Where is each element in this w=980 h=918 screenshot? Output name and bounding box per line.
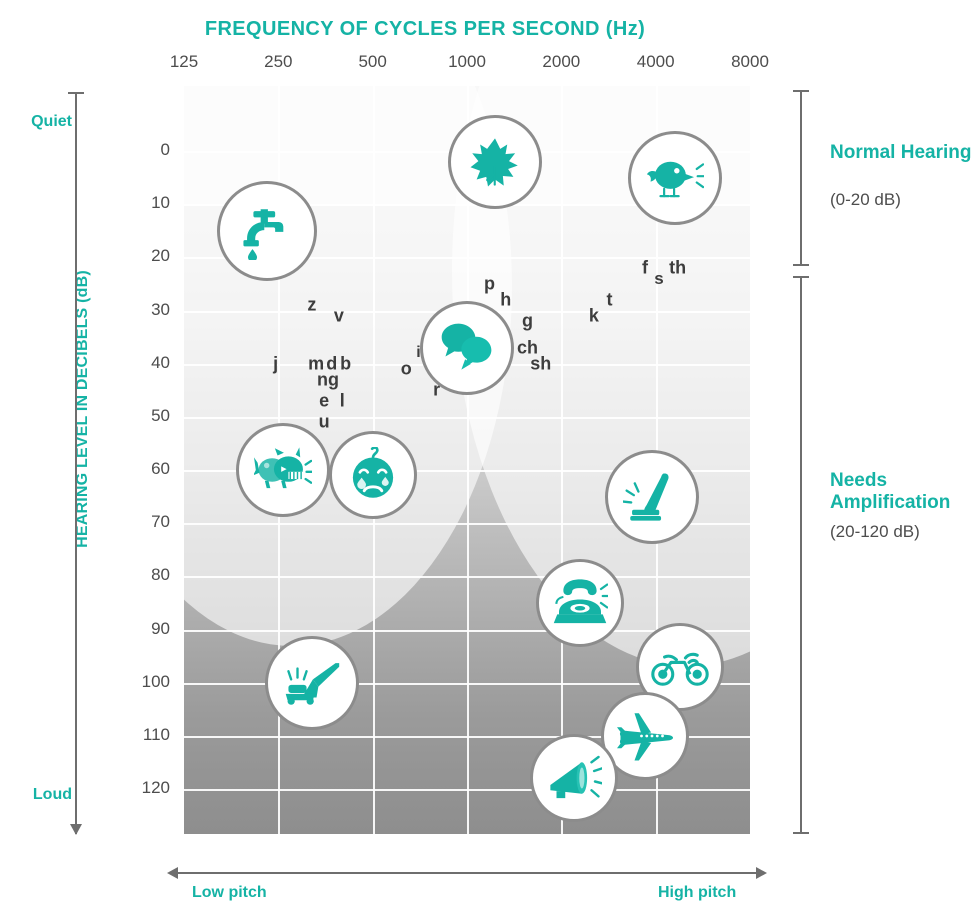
telephone-ring-icon	[552, 575, 608, 631]
phoneme-label: g	[522, 311, 533, 332]
y-tick-label: 80	[118, 565, 170, 585]
leaf-rustling-icon	[467, 134, 523, 190]
x-tick-label: 125	[149, 52, 219, 72]
phoneme-label: p	[484, 273, 495, 294]
sound-bubble-megaphone	[530, 734, 618, 822]
phoneme-label: s	[654, 269, 663, 289]
sound-bubble-faucet-dripping	[217, 181, 317, 281]
arrow-left-icon	[167, 867, 178, 879]
sound-bubble-baby-crying	[329, 431, 417, 519]
bird-chirping-icon	[646, 149, 704, 207]
quiet-label: Quiet	[16, 113, 72, 131]
sound-bubble-speech-bubbles	[420, 301, 514, 395]
high-pitch-label: High pitch	[658, 884, 736, 902]
lawn-mower-icon	[283, 654, 341, 712]
phoneme-label: b	[340, 353, 351, 374]
needs-amplification-title: Needs Amplification	[830, 470, 980, 515]
gridline-vertical	[561, 86, 563, 834]
sound-bubble-bird-chirping	[628, 131, 722, 225]
baby-crying-icon	[345, 447, 401, 503]
megaphone-icon	[546, 750, 602, 806]
pitch-axis	[178, 872, 756, 874]
y-tick-label: 50	[118, 406, 170, 426]
y-tick-label: 90	[118, 619, 170, 639]
phoneme-label: j	[273, 353, 278, 374]
bracket-needs-amplification	[800, 276, 802, 834]
faucet-dripping-icon	[238, 202, 296, 260]
sound-bubble-lawn-mower	[265, 636, 359, 730]
sound-bubble-telephone-ring	[536, 559, 624, 647]
needs-amplification-range: (20-120 dB)	[830, 522, 980, 542]
phoneme-label: h	[500, 289, 511, 310]
y-tick-label: 10	[118, 193, 170, 213]
phoneme-label: o	[401, 358, 412, 379]
airplane-icon	[617, 708, 673, 764]
arrow-right-icon	[756, 867, 767, 879]
sound-bubble-leaf-rustling	[448, 115, 542, 209]
page-title: FREQUENCY OF CYCLES PER SECOND (Hz)	[0, 18, 850, 41]
speech-bubbles-icon	[437, 318, 497, 378]
x-tick-label: 4000	[621, 52, 691, 72]
phoneme-label: e	[319, 390, 329, 411]
phoneme-label: sh	[530, 353, 551, 374]
phoneme-label: u	[319, 412, 330, 433]
normal-hearing-range: (0-20 dB)	[830, 190, 980, 210]
phoneme-label: v	[334, 305, 344, 326]
low-pitch-label: Low pitch	[192, 884, 267, 902]
y-tick-label: 110	[118, 725, 170, 745]
phoneme-label: l	[340, 390, 345, 411]
x-tick-label: 2000	[526, 52, 596, 72]
motorcycle-icon	[651, 638, 709, 696]
x-tick-label: 500	[338, 52, 408, 72]
y-tick-label: 60	[118, 459, 170, 479]
quiet-loud-axis	[75, 92, 77, 834]
phoneme-label: k	[589, 305, 599, 326]
sound-bubble-dog-barking	[236, 423, 330, 517]
dog-barking-icon	[254, 441, 312, 499]
y-tick-label: 100	[118, 672, 170, 692]
y-tick-label: 120	[118, 778, 170, 798]
phoneme-label: z	[307, 295, 316, 316]
x-tick-label: 1000	[432, 52, 502, 72]
phoneme-label: f	[642, 257, 648, 278]
normal-hearing-title: Normal Hearing	[830, 142, 980, 164]
audiogram-chart: FREQUENCY OF CYCLES PER SECOND (Hz) HEAR…	[0, 0, 980, 918]
y-tick-label: 70	[118, 512, 170, 532]
y-tick-label: 20	[118, 246, 170, 266]
x-tick-label: 8000	[715, 52, 785, 72]
vacuum-cleaner-icon	[623, 468, 681, 526]
y-tick-label: 30	[118, 300, 170, 320]
sound-bubble-vacuum-cleaner	[605, 450, 699, 544]
phoneme-label: th	[669, 257, 686, 278]
bracket-normal-hearing	[800, 90, 802, 266]
loud-label: Loud	[16, 786, 72, 804]
x-tick-label: 250	[243, 52, 313, 72]
y-tick-label: 40	[118, 353, 170, 373]
phoneme-label: t	[607, 289, 613, 310]
phoneme-label: ng	[317, 369, 339, 390]
y-tick-label: 0	[118, 140, 170, 160]
